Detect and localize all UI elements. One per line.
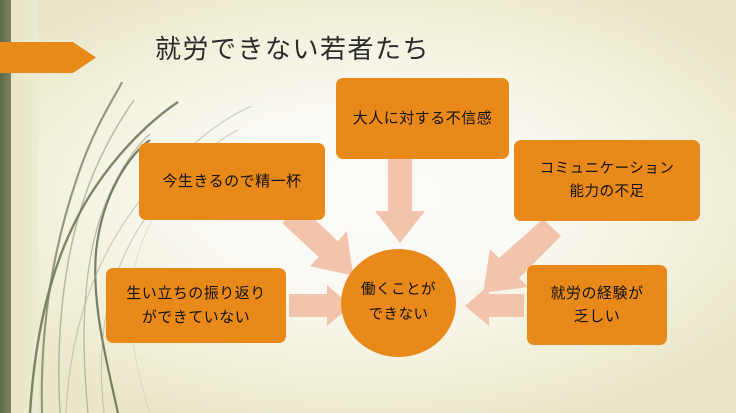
node-survive[interactable]: 今生きるので精一杯 bbox=[139, 143, 325, 220]
presentation-slide: 就労できない若者たち 大人に対する不信感 今生きるので精一杯 コミュニケーション bbox=[0, 0, 736, 413]
node-communication-line-1: コミュニケーション bbox=[540, 158, 675, 180]
node-upbringing-line-1: 生い立ちの振り返り bbox=[126, 282, 266, 305]
node-work-experience-line-2: 乏しい bbox=[574, 305, 621, 328]
node-communication[interactable]: コミュニケーション 能力の不足 bbox=[514, 140, 700, 221]
node-upbringing-line-2: ができていない bbox=[142, 306, 251, 329]
node-distrust-line-1: 大人に対する不信感 bbox=[353, 107, 493, 130]
arrow-distrust-to-center bbox=[375, 158, 425, 243]
node-survive-line-1: 今生きるので精一杯 bbox=[162, 170, 301, 193]
node-upbringing[interactable]: 生い立ちの振り返り ができていない bbox=[106, 268, 286, 343]
node-communication-line-2: 能力の不足 bbox=[570, 181, 645, 203]
node-distrust[interactable]: 大人に対する不信感 bbox=[336, 78, 509, 159]
node-center-line-1: 働くことが bbox=[361, 278, 436, 303]
node-work-experience-line-1: 就労の経験が bbox=[550, 282, 643, 305]
node-center-cannot-work[interactable]: 働くことが できない bbox=[341, 249, 456, 357]
node-work-experience[interactable]: 就労の経験が 乏しい bbox=[527, 265, 667, 345]
node-center-line-2: できない bbox=[369, 303, 429, 328]
